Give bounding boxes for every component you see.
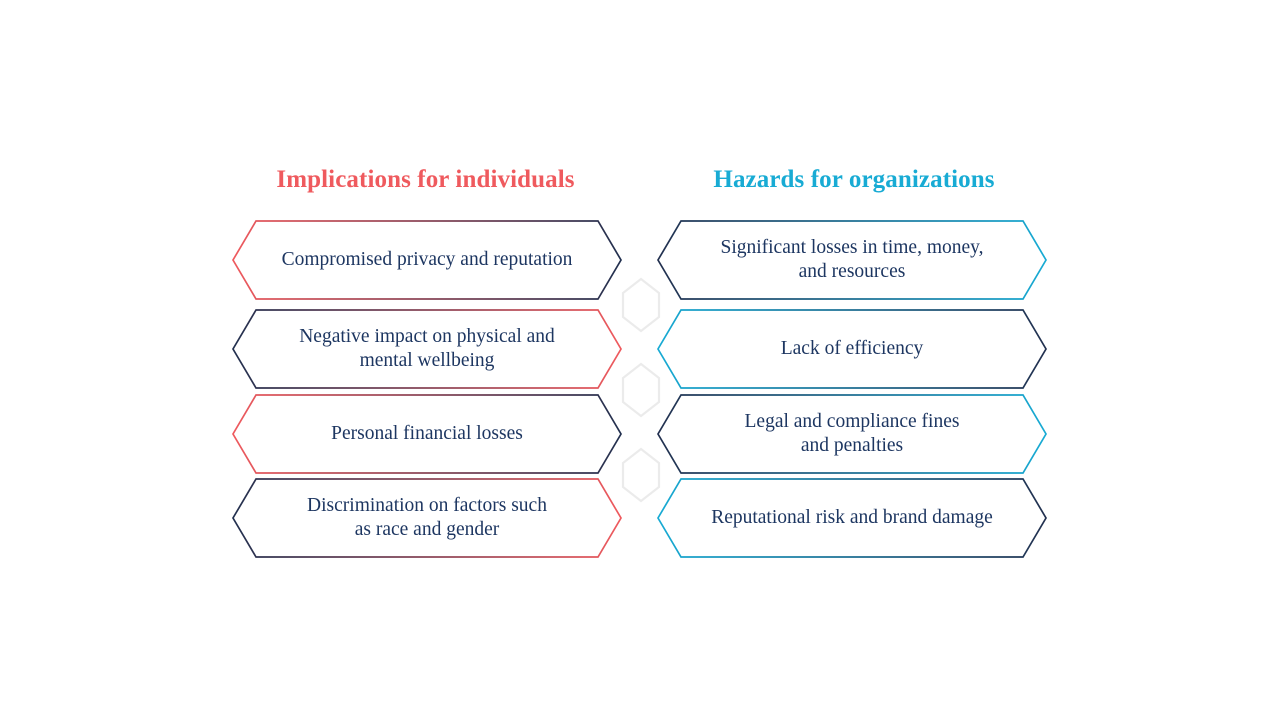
hexagon-icon (619, 277, 663, 333)
chevron-item-right-1[interactable]: Significant losses in time, money, and r… (657, 220, 1047, 300)
diagram-canvas: Implications for individuals Hazards for… (0, 0, 1280, 720)
hexagon-icon (619, 362, 663, 418)
chevron-label: Personal financial losses (278, 394, 576, 474)
decorative-hexagon-1 (619, 277, 663, 333)
decorative-hexagon-3 (619, 447, 663, 503)
chevron-item-right-2[interactable]: Lack of efficiency (657, 309, 1047, 389)
column-title-individuals: Implications for individuals (233, 166, 618, 194)
column-title-organizations: Hazards for organizations (660, 166, 1048, 194)
chevron-item-right-4[interactable]: Reputational risk and brand damage (657, 478, 1047, 558)
chevron-label: Compromised privacy and reputation (278, 220, 576, 300)
chevron-item-right-3[interactable]: Legal and compliance fines and penalties (657, 394, 1047, 474)
chevron-label: Reputational risk and brand damage (703, 478, 1001, 558)
chevron-item-left-1[interactable]: Compromised privacy and reputation (232, 220, 622, 300)
chevron-item-left-3[interactable]: Personal financial losses (232, 394, 622, 474)
chevron-label: Negative impact on physical and mental w… (278, 309, 576, 389)
chevron-label: Discrimination on factors such as race a… (278, 478, 576, 558)
chevron-item-left-4[interactable]: Discrimination on factors such as race a… (232, 478, 622, 558)
hexagon-icon (619, 447, 663, 503)
chevron-label: Legal and compliance fines and penalties (703, 394, 1001, 474)
decorative-hexagon-2 (619, 362, 663, 418)
chevron-label: Significant losses in time, money, and r… (703, 220, 1001, 300)
chevron-label: Lack of efficiency (703, 309, 1001, 389)
chevron-item-left-2[interactable]: Negative impact on physical and mental w… (232, 309, 622, 389)
